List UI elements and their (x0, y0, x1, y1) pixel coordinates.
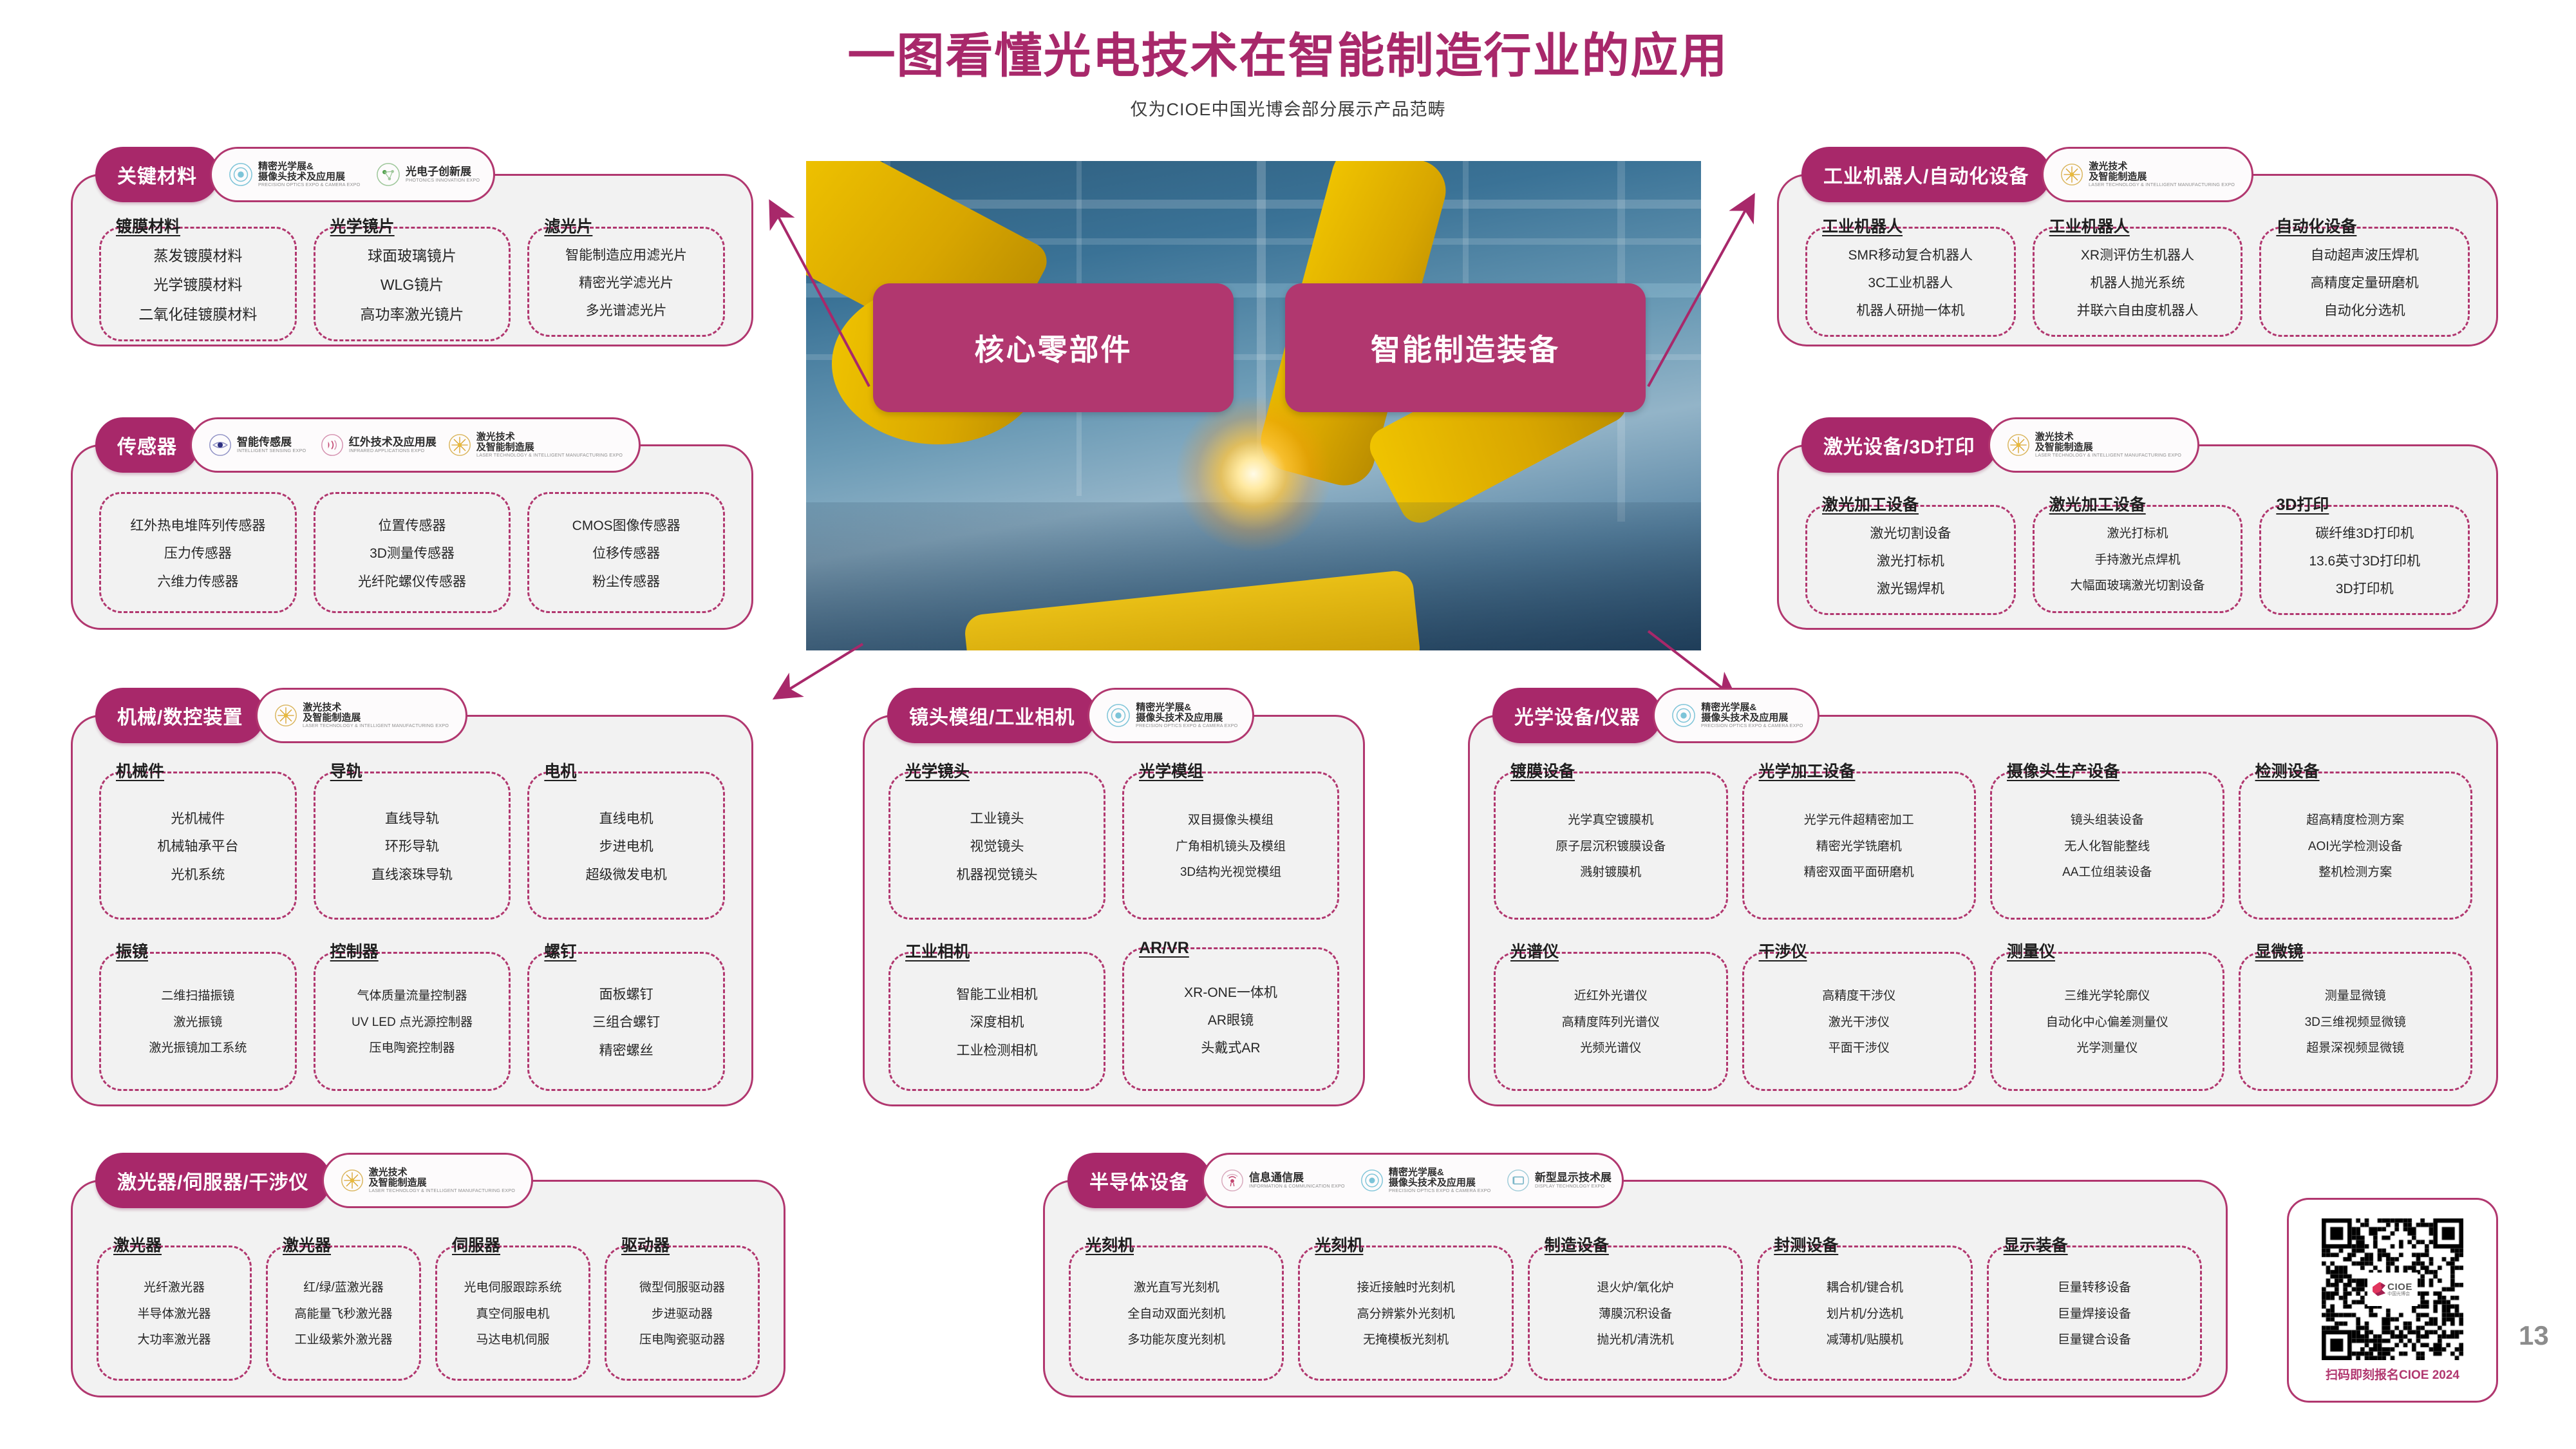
card-industrial-robot-1: 工业机器人 SMR移动复合机器人 3C工业机器人 机器人研抛一体机 (1805, 214, 2016, 330)
list-item: 13.6英寸3D打印机 (2309, 554, 2420, 569)
eye-icon (209, 433, 232, 457)
badge-label-cn1: 激光技术 (476, 432, 629, 442)
card-laser-2: 激光器 红/绿/蓝激光器 高能量飞秒激光器 工业级紫外激光器 (266, 1233, 421, 1381)
list-item: 划片机/分选机 (1827, 1308, 1903, 1321)
badge-label-en: PRECISION OPTICS EXPO & CAMERA EXPO (1136, 723, 1237, 728)
list-item: 光机系统 (171, 867, 225, 882)
list-item: 大功率激光器 (137, 1334, 211, 1347)
card-inspection-equipment: 检测设备 超高精度检测方案 AOI光学检测设备 整机检测方案 (2239, 759, 2473, 920)
badge-label-en: PRECISION OPTICS EXPO & CAMERA EXPO (258, 182, 360, 187)
card-motors: 电机 直线电机 步进电机 超级微发电机 (527, 759, 725, 920)
list-item: 机器视觉镜头 (957, 867, 1038, 882)
list-item: 二氧化硅镀膜材料 (138, 307, 257, 323)
card-laser-processing-2: 激光加工设备 激光打标机 手持激光点焊机 大幅面玻璃激光切割设备 (2033, 492, 2243, 613)
qr-code-image: CIOE 中国光博会 (2322, 1218, 2463, 1360)
badge-label-cn1: 精密光学展& (1389, 1168, 1495, 1178)
card-galvanometers: 振镜 二维扫描振镜 激光振镜 激光振镜加工系统 (99, 939, 297, 1091)
card-title: 工业机器人 (1805, 214, 1903, 237)
card-title: 电机 (527, 759, 576, 782)
section-laser-servo: 激光器/伺服器/干涉仪 激光技术 及智能制造展 LASER TECHNOLOGY… (71, 1153, 785, 1397)
card-items: 直线导轨 环形导轨 直线滚珠导轨 (314, 772, 511, 920)
card-items: 工业镜头 视觉镜头 机器视觉镜头 (888, 772, 1105, 920)
section-lens-camera: 镜头模组/工业相机 精密光学展& 摄像头技术及应用展 PRECISION OPT… (863, 688, 1365, 1106)
section-industrial-robots: 工业机器人/自动化设备 激光技术 及智能制造展 LASER TECHNOLOGY… (1777, 147, 2498, 346)
list-item: 精密光学铣磨机 (1816, 840, 1902, 854)
list-item: 3D打印机 (2336, 582, 2394, 596)
center-label-smart-manufacturing: 智能制造装备 (1285, 283, 1646, 412)
card-title: 光刻机 (1069, 1233, 1134, 1256)
section-header: 激光器/伺服器/干涉仪 激光技术 及智能制造展 LASER TECHNOLOGY… (95, 1153, 533, 1208)
list-item: 高精度干涉仪 (1822, 990, 1895, 1003)
card-items: 光机械件 机械轴承平台 光机系统 (99, 772, 297, 920)
badge-label-cn2: 摄像头技术及应用展 (1389, 1178, 1495, 1188)
badge-precision-optics: 精密光学展& 摄像头技术及应用展 PRECISION OPTICS EXPO &… (1671, 703, 1807, 728)
lens-icon (229, 162, 253, 187)
list-item: 溅射镀膜机 (1580, 866, 1641, 880)
card-interferometer: 干涉仪 高精度干涉仪 激光干涉仪 平面干涉仪 (1742, 939, 1977, 1091)
badge-display: 新型显示技术展 DISPLAY TECHNOLOGY EXPO (1507, 1169, 1612, 1192)
card-items: 接近接触时光刻机 高分辨紫外光刻机 无掩模板光刻机 (1298, 1245, 1513, 1381)
list-item: 自动化中心偏差测量仪 (2046, 1016, 2168, 1030)
cioe-logo-text: CIOE (2387, 1282, 2412, 1292)
badge-laser: 激光技术 及智能制造展 LASER TECHNOLOGY & INTELLIGE… (274, 703, 455, 728)
badge-label-cn2: 摄像头技术及应用展 (1701, 713, 1807, 723)
card-items: 激光直写光刻机 全自动双面光刻机 多功能灰度光刻机 (1069, 1245, 1284, 1381)
badge-label-cn1: 光电子创新展 (406, 166, 483, 178)
list-item: 多功能灰度光刻机 (1127, 1334, 1225, 1347)
section-optical-equipment: 光学设备/仪器 精密光学展& 摄像头技术及应用展 PRECISION OPTIC… (1468, 688, 2498, 1106)
badge-label-cn1: 精密光学展& (1136, 703, 1242, 713)
list-item: 激光打标机 (1877, 554, 1944, 569)
qr-registration-card[interactable]: CIOE 中国光博会 扫码即刻报名CIOE 2024 (2287, 1198, 2498, 1403)
badge-laser: 激光技术 及智能制造展 LASER TECHNOLOGY & INTELLIGE… (341, 1168, 522, 1193)
list-item: 深度相机 (970, 1015, 1024, 1030)
badge-label-cn2: 及智能制造展 (476, 442, 629, 453)
section-badges: 信息通信展 INFORMATION & COMMUNICATION EXPO 精… (1202, 1153, 1624, 1208)
list-item: 位置传感器 (379, 518, 446, 533)
list-item: 机器人研抛一体机 (1856, 303, 1964, 318)
list-item: 微型伺服驱动器 (639, 1282, 725, 1295)
badge-label-cn2: 及智能制造展 (2089, 172, 2241, 182)
list-item: 激光打标机 (2107, 527, 2168, 541)
card-servo: 伺服器 光电伺服跟踪系统 真空伺服电机 马达电机伺服 (435, 1233, 590, 1381)
card-group: 红外热电堆阵列传感器 压力传感器 六维力传感器 位置传感器 3D测量传感器 光纤… (99, 492, 725, 613)
card-optical-processing-equipment: 光学加工设备 光学元件超精密加工 精密光学铣磨机 精密双面平面研磨机 (1742, 759, 1977, 920)
list-item: 粉尘传感器 (592, 574, 660, 589)
card-items: 光纤激光器 半导体激光器 大功率激光器 (97, 1245, 252, 1381)
section-laser-3dprint: 激光设备/3D打印 激光技术 及智能制造展 LASER TECHNOLOGY &… (1777, 417, 2498, 630)
list-item: 测量显微镜 (2325, 990, 2386, 1003)
section-badges: 激光技术 及智能制造展 LASER TECHNOLOGY & INTELLIGE… (322, 1153, 534, 1208)
card-items: 激光切割设备 激光打标机 激光锡焊机 (1805, 505, 2016, 615)
badge-ict: 信息通信展 INFORMATION & COMMUNICATION EXPO (1221, 1169, 1349, 1192)
list-item: 超景深视频显微镜 (2306, 1042, 2404, 1056)
card-title: 测量仪 (1990, 939, 2055, 962)
list-item: 耦合机/键合机 (1827, 1282, 1903, 1295)
section-title: 激光设备/3D打印 (1801, 417, 1997, 473)
card-group: 工业机器人 SMR移动复合机器人 3C工业机器人 机器人研抛一体机 工业机器人 … (1805, 214, 2470, 330)
card-title: 封测设备 (1757, 1233, 1838, 1256)
card-items: 双目摄像头模组 广角相机镜头及模组 3D结构光视觉模组 (1122, 772, 1339, 920)
badge-label-en: LASER TECHNOLOGY & INTELLIGENT MANUFACTU… (2089, 182, 2235, 187)
card-mechanical-parts: 机械件 光机械件 机械轴承平台 光机系统 (99, 759, 297, 920)
badge-label-cn1: 智能传感展 (237, 437, 309, 448)
list-item: 退火炉/氧化炉 (1597, 1282, 1673, 1295)
badge-label-cn1: 信息通信展 (1249, 1172, 1349, 1184)
list-item: 真空伺服电机 (476, 1308, 549, 1321)
card-items: 红/绿/蓝激光器 高能量飞秒激光器 工业级紫外激光器 (266, 1245, 421, 1381)
card-title: 镀膜材料 (99, 214, 180, 237)
card-group-row2: 振镜 二维扫描振镜 激光振镜 激光振镜加工系统 控制器 气体质量流量控制器 UV… (99, 939, 725, 1091)
section-header: 光学设备/仪器 精密光学展& 摄像头技术及应用展 PRECISION OPTIC… (1492, 688, 1819, 743)
badge-label-en: LASER TECHNOLOGY & INTELLIGENT MANUFACTU… (303, 723, 449, 728)
list-item: 全自动双面光刻机 (1127, 1308, 1225, 1321)
section-badges: 激光技术 及智能制造展 LASER TECHNOLOGY & INTELLIGE… (256, 688, 467, 743)
section-title: 半导体设备 (1067, 1153, 1211, 1208)
card-group: 激光加工设备 激光切割设备 激光打标机 激光锡焊机 激光加工设备 激光打标机 手… (1805, 492, 2470, 613)
list-item: 精密螺丝 (599, 1043, 653, 1058)
list-item: 光频光谱仪 (1580, 1042, 1641, 1056)
card-title: 激光加工设备 (2033, 492, 2146, 515)
list-item: 激光锡焊机 (1877, 582, 1944, 596)
section-title: 激光器/伺服器/干涉仪 (95, 1153, 331, 1208)
badge-laser: 激光技术 及智能制造展 LASER TECHNOLOGY & INTELLIGE… (2007, 432, 2188, 458)
list-item: 巨量转移设备 (2058, 1282, 2131, 1295)
card-title: 激光器 (266, 1233, 331, 1256)
section-badges: 激光技术 及智能制造展 LASER TECHNOLOGY & INTELLIGE… (1988, 417, 2200, 473)
list-item: AA工位组装设备 (2062, 866, 2152, 880)
section-badges: 智能传感展 INTELLIGENT SENSING EXPO 红外技术及应用展 … (190, 417, 641, 473)
list-item: 近红外光谱仪 (1574, 990, 1648, 1003)
card-title: 控制器 (314, 939, 379, 962)
card-items: 位置传感器 3D测量传感器 光纤陀螺仪传感器 (314, 492, 511, 613)
card-title: 机械件 (99, 759, 164, 782)
card-title: 制造设备 (1528, 1233, 1609, 1256)
wave-icon (321, 433, 344, 457)
card-driver: 驱动器 微型伺服驱动器 步进驱动器 压电陶瓷驱动器 (605, 1233, 760, 1381)
list-item: 光纤激光器 (144, 1282, 205, 1295)
section-header: 半导体设备 信息通信展 INFORMATION & COMMUNICATION … (1067, 1153, 1624, 1208)
card-lithography-2: 光刻机 接近接触时光刻机 高分辨紫外光刻机 无掩模板光刻机 (1298, 1233, 1513, 1381)
list-item: 大幅面玻璃激光切割设备 (2071, 580, 2205, 593)
card-items: 蒸发镀膜材料 光学镀膜材料 二氧化硅镀膜材料 (99, 227, 297, 341)
list-item: 自动化分选机 (2324, 303, 2405, 318)
card-industrial-robot-2: 工业机器人 XR测评仿生机器人 机器人抛光系统 并联六自由度机器人 (2033, 214, 2243, 330)
list-item: 气体质量流量控制器 (357, 990, 467, 1003)
card-sensor-group-2: 位置传感器 3D测量传感器 光纤陀螺仪传感器 (314, 492, 511, 613)
badge-label-cn1: 激光技术 (369, 1168, 522, 1178)
list-item: 面板螺钉 (599, 987, 653, 1002)
list-item: 手持激光点焊机 (2095, 554, 2181, 567)
card-title: 干涉仪 (1742, 939, 1807, 962)
badge-label-cn2: 及智能制造展 (303, 713, 455, 723)
card-items: 光学真空镀膜机 原子层沉积镀膜设备 溅射镀膜机 (1494, 772, 1728, 920)
card-group-row1: 机械件 光机械件 机械轴承平台 光机系统 导轨 直线导轨 环形导轨 直线滚珠导轨… (99, 759, 725, 920)
card-filters: 滤光片 智能制造应用滤光片 精密光学滤光片 多光谱滤光片 (527, 214, 725, 330)
section-title: 关键材料 (95, 147, 219, 202)
list-item: 高精度阵列光谱仪 (1562, 1016, 1660, 1030)
card-items: SMR移动复合机器人 3C工业机器人 机器人研抛一体机 (1805, 227, 2016, 337)
badge-label-cn1: 红外技术及应用展 (349, 437, 437, 448)
list-item: 工业级紫外激光器 (294, 1334, 392, 1347)
list-item: 精密光学滤光片 (579, 276, 673, 290)
card-optical-lens: 光学镜头 工业镜头 视觉镜头 机器视觉镜头 (888, 759, 1105, 920)
card-group-row2: 光谱仪 近红外光谱仪 高精度阵列光谱仪 光频光谱仪 干涉仪 高精度干涉仪 激光干… (1494, 939, 2472, 1091)
list-item: 球面玻璃镜片 (368, 248, 456, 264)
list-item: 马达电机伺服 (476, 1334, 549, 1347)
section-badges: 激光技术 及智能制造展 LASER TECHNOLOGY & INTELLIGE… (2042, 147, 2253, 202)
card-lithography-1: 光刻机 激光直写光刻机 全自动双面光刻机 多功能灰度光刻机 (1069, 1233, 1284, 1381)
page-number: 13 (2519, 1320, 2549, 1351)
list-item: 步进电机 (599, 839, 653, 854)
list-item: 二维扫描振镜 (161, 990, 234, 1003)
card-title: 工业机器人 (2033, 214, 2130, 237)
list-item: 无掩模板光刻机 (1363, 1334, 1449, 1347)
card-items: 碳纤维3D打印机 13.6英寸3D打印机 3D打印机 (2259, 505, 2470, 615)
badge-label-en: DISPLAY TECHNOLOGY EXPO (1535, 1184, 1608, 1189)
center-label-core-components: 核心零部件 (873, 283, 1234, 412)
cioe-bird-icon (2373, 1282, 2385, 1296)
card-coating-materials: 镀膜材料 蒸发镀膜材料 光学镀膜材料 二氧化硅镀膜材料 (99, 214, 297, 330)
section-header: 机械/数控装置 激光技术 及智能制造展 LASER TECHNOLOGY & I… (95, 688, 467, 743)
card-items: 三维光学轮廓仪 自动化中心偏差测量仪 光学测量仪 (1990, 952, 2224, 1091)
screen-icon (1507, 1169, 1530, 1192)
card-laser-processing-1: 激光加工设备 激光切割设备 激光打标机 激光锡焊机 (1805, 492, 2016, 613)
badge-label-cn1: 精密光学展& (1701, 703, 1807, 713)
card-sensor-group-1: 红外热电堆阵列传感器 压力传感器 六维力传感器 (99, 492, 297, 613)
card-group-row2: 工业相机 智能工业相机 深度相机 工业检测相机 AR/VR XR-ONE一体机 … (888, 939, 1339, 1091)
card-microscope: 显微镜 测量显微镜 3D三维视频显微镜 超景深视频显微镜 (2239, 939, 2473, 1091)
list-item: 红/绿/蓝激光器 (303, 1282, 384, 1295)
badge-precision-optics: 精密光学展& 摄像头技术及应用展 PRECISION OPTICS EXPO &… (1360, 1168, 1495, 1193)
card-title: 激光器 (97, 1233, 162, 1256)
card-title: 光谱仪 (1494, 939, 1559, 962)
card-group-row1: 光学镜头 工业镜头 视觉镜头 机器视觉镜头 光学模组 双目摄像头模组 广角相机镜… (888, 759, 1339, 920)
badge-label-cn1: 激光技术 (303, 703, 455, 713)
list-item: 整机检测方案 (2318, 866, 2392, 880)
badge-precision-optics: 精密光学展& 摄像头技术及应用展 PRECISION OPTICS EXPO &… (1106, 703, 1242, 728)
card-title: 光学镜片 (314, 214, 395, 237)
list-item: 工业镜头 (970, 811, 1024, 826)
list-item: WLG镜片 (381, 277, 444, 293)
list-item: 位移传感器 (592, 546, 660, 561)
card-title: 工业相机 (888, 939, 970, 962)
badge-label-cn2: 及智能制造展 (2035, 442, 2188, 453)
list-item: CMOS图像传感器 (572, 518, 681, 533)
section-title: 机械/数控装置 (95, 688, 265, 743)
card-3d-printing: 3D打印 碳纤维3D打印机 13.6英寸3D打印机 3D打印机 (2259, 492, 2470, 613)
card-items: 光电伺服跟踪系统 真空伺服电机 马达电机伺服 (435, 1245, 590, 1381)
card-title: 光学镜头 (888, 759, 970, 782)
badge-sensing: 智能传感展 INTELLIGENT SENSING EXPO (209, 433, 309, 457)
list-item: XR-ONE一体机 (1184, 985, 1277, 1000)
section-badges: 精密光学展& 摄像头技术及应用展 PRECISION OPTICS EXPO &… (210, 147, 495, 202)
card-sensor-group-3: CMOS图像传感器 位移传感器 粉尘传感器 (527, 492, 725, 613)
card-group: 光刻机 激光直写光刻机 全自动双面光刻机 多功能灰度光刻机 光刻机 接近接触时光… (1069, 1233, 2202, 1381)
card-title: AR/VR (1122, 939, 1189, 958)
list-item: 原子层沉积镀膜设备 (1556, 840, 1666, 854)
section-header: 工业机器人/自动化设备 激光技术 及智能制造展 LASER TECHNOLOGY… (1801, 147, 2253, 202)
list-item: 蒸发镀膜材料 (153, 248, 242, 264)
list-item: 机器人抛光系统 (2091, 276, 2185, 290)
section-title: 工业机器人/自动化设备 (1801, 147, 2051, 202)
page-title: 一图看懂光电技术在智能制造行业的应用 (0, 31, 2576, 81)
badge-precision-optics: 精密光学展& 摄像头技术及应用展 PRECISION OPTICS EXPO &… (229, 162, 364, 187)
list-item: 光电伺服跟踪系统 (464, 1282, 561, 1295)
list-item: 减薄机/贴膜机 (1827, 1334, 1903, 1347)
list-item: AOI光学检测设备 (2308, 840, 2403, 854)
card-title: 驱动器 (605, 1233, 670, 1256)
list-item: 3C工业机器人 (1868, 276, 1953, 290)
list-item: 光纤陀螺仪传感器 (358, 574, 466, 589)
list-item: XR测评仿生机器人 (2081, 248, 2194, 263)
card-items: 球面玻璃镜片 WLG镜片 高功率激光镜片 (314, 227, 511, 341)
card-title: 光刻机 (1298, 1233, 1363, 1256)
section-header: 传感器 智能传感展 INTELLIGENT SENSING EXPO 红外技术及… (95, 417, 641, 473)
badge-label-en: PHOTONICS INNOVATION EXPO (406, 178, 480, 183)
list-item: 激光干涉仪 (1829, 1016, 1890, 1030)
list-item: 光学元件超精密加工 (1804, 814, 1914, 828)
list-item: 压电陶瓷驱动器 (639, 1334, 725, 1347)
card-items: 巨量转移设备 巨量焊接设备 巨量键合设备 (1987, 1245, 2202, 1381)
list-item: 高分辨紫外光刻机 (1357, 1308, 1455, 1321)
card-items: 光学元件超精密加工 精密光学铣磨机 精密双面平面研磨机 (1742, 772, 1977, 920)
section-header: 镜头模组/工业相机 精密光学展& 摄像头技术及应用展 PRECISION OPT… (887, 688, 1254, 743)
list-item: 光学镀膜材料 (153, 277, 242, 293)
card-title: 摄像头生产设备 (1990, 759, 2120, 782)
card-controllers: 控制器 气体质量流量控制器 UV LED 点光源控制器 压电陶瓷控制器 (314, 939, 511, 1091)
card-optical-lenses: 光学镜片 球面玻璃镜片 WLG镜片 高功率激光镜片 (314, 214, 511, 330)
card-guide-rails: 导轨 直线导轨 环形导轨 直线滚珠导轨 (314, 759, 511, 920)
list-item: 激光振镜 (173, 1016, 222, 1030)
section-title: 传感器 (95, 417, 199, 473)
card-items: 面板螺钉 三组合螺钉 精密螺丝 (527, 952, 725, 1091)
cioe-logo: CIOE 中国光博会 (2367, 1273, 2418, 1306)
list-item: 直线导轨 (385, 811, 439, 826)
badge-label-cn2: 摄像头技术及应用展 (1136, 713, 1242, 723)
list-item: SMR移动复合机器人 (1848, 248, 1973, 263)
list-item: 激光切割设备 (1870, 526, 1951, 541)
card-title: 振镜 (99, 939, 148, 962)
list-item: 接近接触时光刻机 (1357, 1282, 1455, 1295)
list-item: 广角相机镜头及模组 (1176, 840, 1286, 854)
badge-label-en: INTELLIGENT SENSING EXPO (237, 448, 306, 453)
card-title: 显微镜 (2239, 939, 2304, 962)
card-title: 光学加工设备 (1742, 759, 1856, 782)
list-item: 压电陶瓷控制器 (370, 1042, 455, 1056)
list-item: 智能工业相机 (957, 987, 1038, 1002)
badge-photonics: 光电子创新展 PHOTONICS INNOVATION EXPO (376, 162, 483, 187)
list-item: 高精度定量研磨机 (2311, 276, 2419, 290)
list-item: 超高精度检测方案 (2306, 814, 2404, 828)
list-item: 步进驱动器 (652, 1308, 713, 1321)
card-items: 直线电机 步进电机 超级微发电机 (527, 772, 725, 920)
list-item: 头戴式AR (1201, 1041, 1260, 1056)
badge-label-cn1: 激光技术 (2089, 162, 2241, 172)
section-key-materials: 关键材料 精密光学展& 摄像头技术及应用展 PRECISION OPTICS E… (71, 147, 753, 346)
card-items: 退火炉/氧化炉 薄膜沉积设备 抛光机/清洗机 (1528, 1245, 1743, 1381)
lens-icon (1671, 703, 1696, 728)
list-item: UV LED 点光源控制器 (352, 1016, 473, 1030)
list-item: 直线滚珠导轨 (371, 867, 453, 882)
card-items: 气体质量流量控制器 UV LED 点光源控制器 压电陶瓷控制器 (314, 952, 511, 1091)
list-item: 光学真空镀膜机 (1568, 814, 1653, 828)
card-packaging-testing-equipment: 封测设备 耦合机/键合机 划片机/分选机 减薄机/贴膜机 (1757, 1233, 1972, 1381)
list-item: 超级微发电机 (586, 867, 667, 882)
card-title: 检测设备 (2239, 759, 2320, 782)
section-semiconductor: 半导体设备 信息通信展 INFORMATION & COMMUNICATION … (1043, 1153, 2228, 1397)
badge-label-en: PRECISION OPTICS EXPO & CAMERA EXPO (1389, 1188, 1490, 1193)
card-items: 测量显微镜 3D三维视频显微镜 超景深视频显微镜 (2239, 952, 2473, 1091)
badge-label-en: PRECISION OPTICS EXPO & CAMERA EXPO (1701, 723, 1803, 728)
section-badges: 精密光学展& 摄像头技术及应用展 PRECISION OPTICS EXPO &… (1653, 688, 1819, 743)
badge-label-cn2: 及智能制造展 (369, 1178, 522, 1188)
list-item: 三维光学轮廓仪 (2064, 990, 2150, 1003)
title-block: 一图看懂光电技术在智能制造行业的应用 仅为CIOE中国光博会部分展示产品范畴 (0, 31, 2576, 120)
card-items: 激光打标机 手持激光点焊机 大幅面玻璃激光切割设备 (2033, 505, 2243, 613)
card-ar-vr: AR/VR XR-ONE一体机 AR眼镜 头戴式AR (1122, 939, 1339, 1091)
badge-label-en: LASER TECHNOLOGY & INTELLIGENT MANUFACTU… (369, 1188, 515, 1193)
card-optical-module: 光学模组 双目摄像头模组 广角相机镜头及模组 3D结构光视觉模组 (1122, 759, 1339, 920)
list-item: 三组合螺钉 (592, 1015, 660, 1030)
badge-label-en: LASER TECHNOLOGY & INTELLIGENT MANUFACTU… (2035, 453, 2181, 458)
list-item: 视觉镜头 (970, 839, 1024, 854)
list-item: 精密双面平面研磨机 (1804, 866, 1914, 880)
card-display-equipment: 显示装备 巨量转移设备 巨量焊接设备 巨量键合设备 (1987, 1233, 2202, 1381)
list-item: 光机械件 (171, 811, 225, 826)
card-coating-equipment: 镀膜设备 光学真空镀膜机 原子层沉积镀膜设备 溅射镀膜机 (1494, 759, 1728, 920)
list-item: 半导体激光器 (137, 1308, 211, 1321)
card-title: 镀膜设备 (1494, 759, 1575, 782)
card-items: 红外热电堆阵列传感器 压力传感器 六维力传感器 (99, 492, 297, 613)
card-items: 自动超声波压焊机 高精度定量研磨机 自动化分选机 (2259, 227, 2470, 337)
card-group: 镀膜材料 蒸发镀膜材料 光学镀膜材料 二氧化硅镀膜材料 光学镜片 球面玻璃镜片 … (99, 214, 725, 330)
badge-infrared: 红外技术及应用展 INFRARED APPLICATIONS EXPO (321, 433, 437, 457)
section-title: 光学设备/仪器 (1492, 688, 1662, 743)
card-items: XR-ONE一体机 AR眼镜 头戴式AR (1122, 947, 1339, 1091)
card-title: 光学模组 (1122, 759, 1203, 782)
card-group-row1: 镀膜设备 光学真空镀膜机 原子层沉积镀膜设备 溅射镀膜机 光学加工设备 光学元件… (1494, 759, 2472, 920)
section-title: 镜头模组/工业相机 (887, 688, 1096, 743)
list-item: 巨量焊接设备 (2058, 1308, 2131, 1321)
card-title: 3D打印 (2259, 492, 2329, 515)
badge-label-cn2: 摄像头技术及应用展 (258, 172, 364, 182)
list-item: 智能制造应用滤光片 (565, 248, 687, 263)
card-title: 伺服器 (435, 1233, 500, 1256)
card-title: 螺钉 (527, 939, 576, 962)
card-group: 激光器 光纤激光器 半导体激光器 大功率激光器 激光器 红/绿/蓝激光器 高能量… (97, 1233, 760, 1381)
starburst-icon (448, 433, 471, 457)
card-camera-production-equipment: 摄像头生产设备 镜头组装设备 无人化智能整线 AA工位组装设备 (1990, 759, 2224, 920)
card-title: 自动化设备 (2259, 214, 2356, 237)
antenna-icon (1221, 1169, 1244, 1192)
list-item: 平面干涉仪 (1829, 1042, 1890, 1056)
card-laser-1: 激光器 光纤激光器 半导体激光器 大功率激光器 (97, 1233, 252, 1381)
card-title: 显示装备 (1987, 1233, 2068, 1256)
list-item: 光学测量仪 (2076, 1042, 2138, 1056)
card-items: 微型伺服驱动器 步进驱动器 压电陶瓷驱动器 (605, 1245, 760, 1381)
list-item: 3D结构光视觉模组 (1180, 866, 1281, 880)
list-item: 薄膜沉积设备 (1599, 1308, 1672, 1321)
list-item: 镜头组装设备 (2071, 814, 2144, 828)
card-items: 高精度干涉仪 激光干涉仪 平面干涉仪 (1742, 952, 1977, 1091)
badge-label-en: LASER TECHNOLOGY & INTELLIGENT MANUFACTU… (476, 453, 623, 458)
card-title: 激光加工设备 (1805, 492, 1919, 515)
section-sensors: 传感器 智能传感展 INTELLIGENT SENSING EXPO 红外技术及… (71, 417, 753, 630)
list-item: 3D测量传感器 (370, 546, 455, 561)
list-item: 自动超声波压焊机 (2311, 248, 2419, 263)
starburst-icon (341, 1169, 364, 1192)
